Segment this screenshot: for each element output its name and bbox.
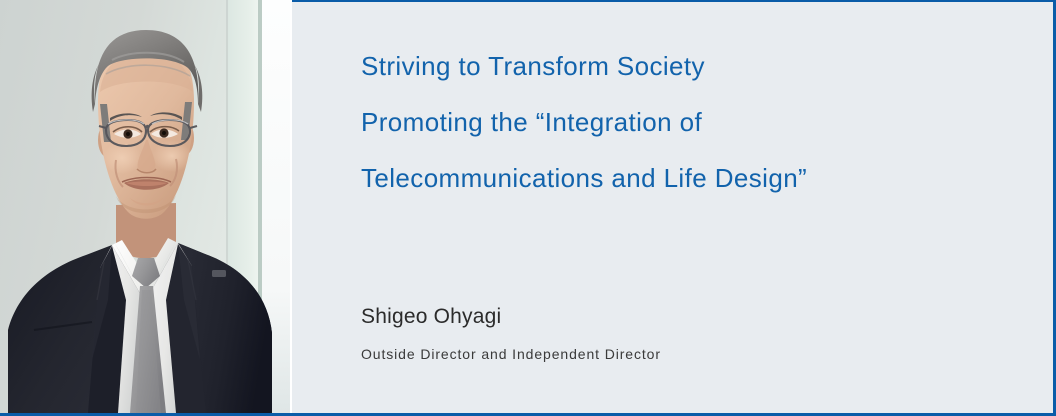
byline: Shigeo Ohyagi Outside Director and Indep… — [361, 302, 1021, 364]
message-panel: Striving to Transform Society Promoting … — [292, 0, 1056, 413]
person-title: Outside Director and Independent Directo… — [361, 344, 1021, 364]
portrait-photo-image — [0, 0, 290, 413]
headline-line-2: Promoting the “Integration of — [361, 94, 1021, 150]
portrait-photo — [0, 0, 290, 413]
headline-line-3: Telecommunications and Life Design” — [361, 150, 1021, 206]
message-banner: Striving to Transform Society Promoting … — [0, 0, 1056, 416]
headline-line-1: Striving to Transform Society — [361, 38, 1021, 94]
person-name: Shigeo Ohyagi — [361, 302, 1021, 332]
page-title: Striving to Transform Society Promoting … — [361, 38, 1021, 206]
